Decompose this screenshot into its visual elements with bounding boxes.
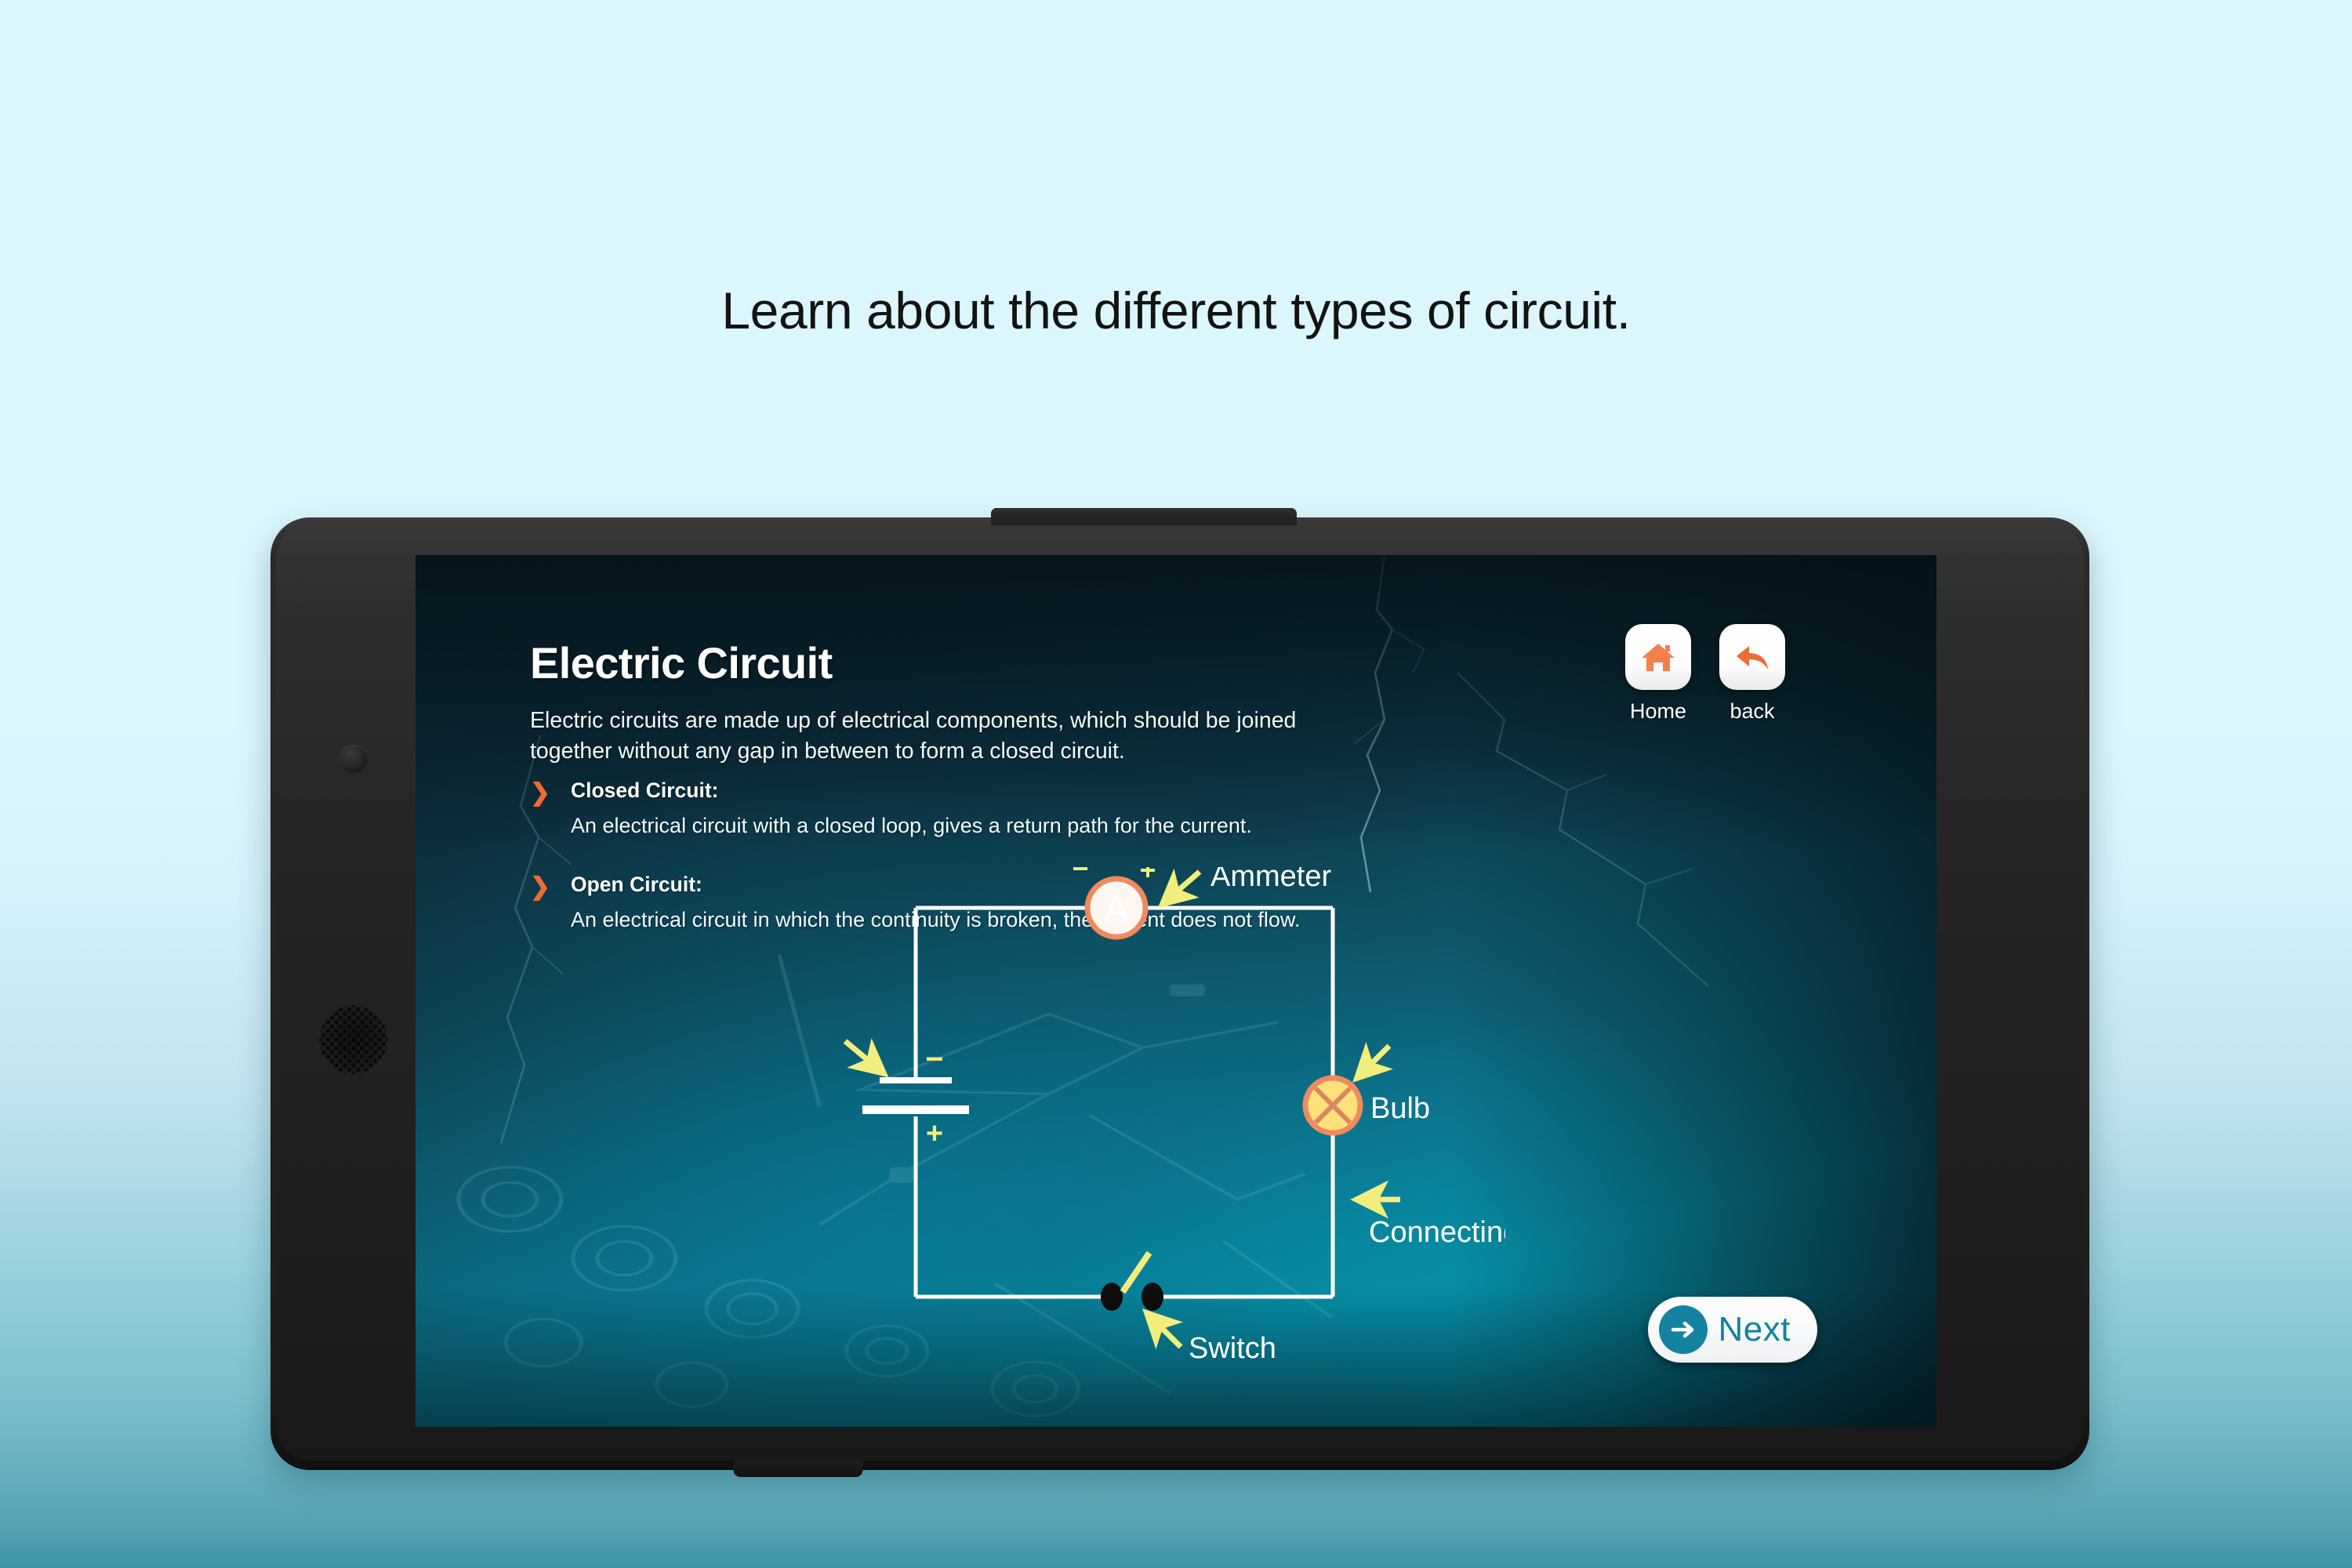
connecting-wires-label: Connecting Wires <box>1369 1216 1505 1249</box>
front-camera-icon <box>339 745 368 773</box>
ammeter-symbol: A <box>1087 879 1145 937</box>
switch-symbol <box>1101 1253 1163 1311</box>
chevron-right-icon: ❯ <box>530 874 550 898</box>
bulb-pointer-arrow <box>1358 1046 1389 1077</box>
back-button-label: back <box>1730 699 1774 724</box>
back-arrow-icon <box>1733 638 1771 676</box>
chevron-right-icon: ❯ <box>530 780 550 804</box>
home-button[interactable]: Home <box>1625 624 1691 724</box>
tablet-top-tab <box>991 508 1297 525</box>
home-button-label: Home <box>1630 699 1686 724</box>
home-button-surface[interactable] <box>1625 624 1691 690</box>
cell-pointer-arrow <box>845 1041 883 1073</box>
ammeter-negative-label: − <box>1072 867 1088 884</box>
cell-positive-label: + <box>926 1117 943 1150</box>
back-button-surface[interactable] <box>1719 624 1785 690</box>
tablet-screen: Electric Circuit Electric circuits are m… <box>416 555 1936 1427</box>
page-headline: Learn about the different types of circu… <box>0 281 2352 340</box>
tablet-device: Electric Circuit Electric circuits are m… <box>270 517 2089 1468</box>
bullet-description: An electrical circuit with a closed loop… <box>571 814 1408 838</box>
back-button[interactable]: back <box>1719 624 1785 724</box>
intro-paragraph: Electric circuits are made up of electri… <box>530 706 1322 767</box>
bullet-term: Closed Circuit: <box>571 779 1408 803</box>
arrow-right-icon <box>1669 1316 1697 1344</box>
next-button-circle <box>1659 1305 1708 1354</box>
tablet-bottom-tab <box>733 1460 862 1477</box>
bulb-label: Bulb <box>1370 1092 1430 1125</box>
next-button[interactable]: Next <box>1648 1297 1817 1363</box>
circuit-diagram: A − + Ammeter − + Cell <box>831 867 1505 1369</box>
ammeter-positive-label: + <box>1139 867 1156 886</box>
home-icon <box>1639 638 1677 676</box>
switch-label: Switch <box>1189 1332 1276 1365</box>
cell-negative-label: − <box>925 1042 943 1076</box>
cell-symbol <box>862 1077 969 1114</box>
speaker-grille-icon <box>319 1005 388 1074</box>
ammeter-pointer-arrow <box>1163 872 1200 903</box>
ammeter-letter: A <box>1104 889 1129 931</box>
bulb-symbol <box>1305 1078 1360 1133</box>
connecting-wires <box>916 908 1333 1297</box>
switch-pointer-arrow <box>1148 1314 1181 1347</box>
lesson-content: Electric Circuit Electric circuits are m… <box>416 555 1936 1427</box>
next-button-label: Next <box>1719 1310 1791 1349</box>
ammeter-label: Ammeter <box>1210 867 1331 893</box>
page-title: Electric Circuit <box>530 637 833 688</box>
nav-buttons: Home back <box>1625 624 1785 724</box>
list-item: ❯ Closed Circuit: An electrical circuit … <box>530 779 1408 838</box>
